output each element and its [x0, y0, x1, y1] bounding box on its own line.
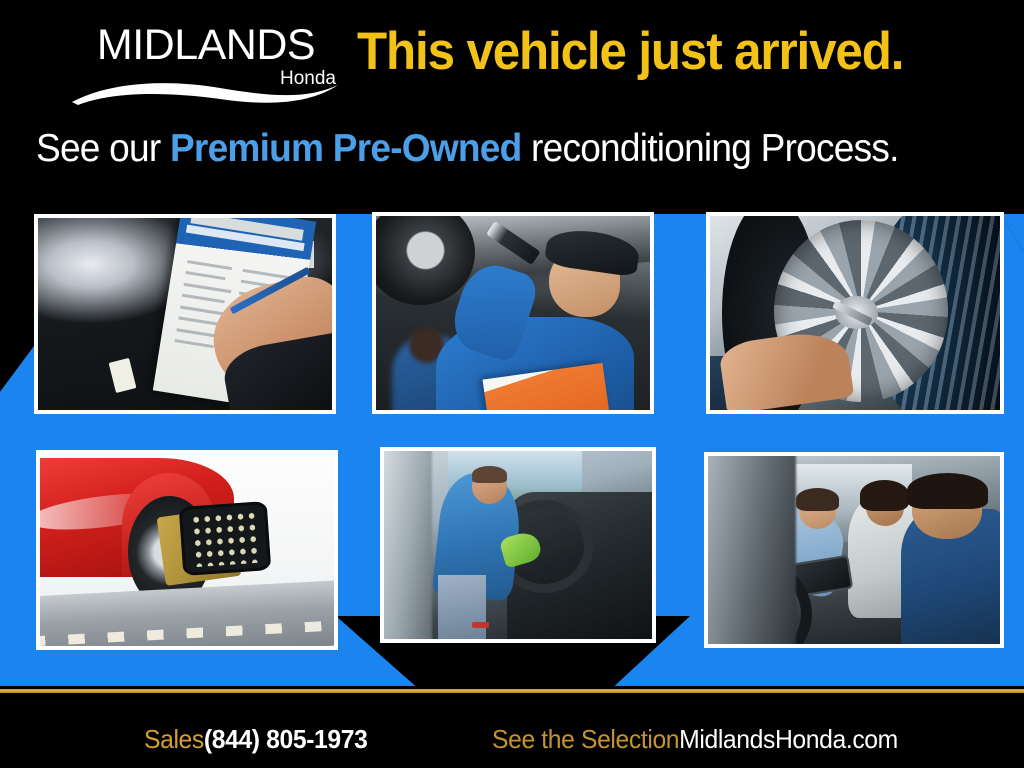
- midlands-honda-logo[interactable]: MIDLANDS Honda: [72, 22, 340, 100]
- alignment-target: [179, 501, 272, 576]
- console-indicator: [472, 622, 488, 628]
- detailer-jeans: [438, 575, 486, 639]
- customer-woman-hair: [860, 480, 910, 510]
- photo-inspection-checklist: [34, 214, 336, 414]
- banner-header: MIDLANDS Honda This vehicle just arrived…: [0, 0, 1024, 196]
- photo-delivery-walkthrough: [704, 452, 1004, 648]
- selection-link[interactable]: See the SelectionMidlandsHonda.com: [492, 724, 898, 754]
- banner-footer: Sales(844) 805-1973 See the SelectionMid…: [0, 693, 1024, 768]
- detailer-hair: [472, 466, 507, 483]
- photo-interior-detailing-image: [384, 451, 652, 639]
- photo-wheel-alignment-image: [40, 454, 334, 646]
- sales-contact[interactable]: Sales(844) 805-1973: [144, 724, 367, 754]
- door-pillar: [384, 451, 432, 639]
- photo-undercarriage-inspection-image: [376, 216, 650, 410]
- subheadline-lead: See our: [36, 127, 170, 170]
- promo-banner: MIDLANDS Honda This vehicle just arrived…: [0, 0, 1024, 768]
- customer-man-hair: [907, 473, 989, 509]
- front-tire: [376, 216, 475, 305]
- photo-interior-detailing: [380, 447, 656, 643]
- photo-delivery-walkthrough-image: [708, 456, 1000, 644]
- subheadline-highlight: Premium Pre-Owned: [170, 127, 522, 170]
- photo-wheel-service-image: [710, 216, 1000, 410]
- sales-label: Sales: [144, 724, 204, 754]
- headline: This vehicle just arrived.: [357, 22, 903, 82]
- sales-phone[interactable]: (844) 805-1973: [204, 724, 368, 754]
- subheadline: See our Premium Pre-Owned reconditioning…: [36, 126, 899, 172]
- photo-inspection-checklist-image: [38, 218, 332, 410]
- website-url[interactable]: MidlandsHonda.com: [679, 724, 898, 754]
- alignment-target-dots: [190, 510, 261, 567]
- alignment-ramp: [40, 580, 334, 646]
- photo-wheel-alignment: [36, 450, 338, 650]
- ramp-stripe: [40, 620, 334, 646]
- door-frame: [708, 456, 796, 644]
- subheadline-tail: reconditioning Process.: [521, 127, 898, 170]
- sales-associate-hair: [796, 488, 840, 511]
- photo-undercarriage-inspection: [372, 212, 654, 414]
- photo-wheel-service: [706, 212, 1004, 414]
- dipstick-tag: [108, 358, 135, 393]
- selection-label: See the Selection: [492, 724, 679, 754]
- swoosh-icon: [70, 80, 342, 106]
- logo-wordmark: MIDLANDS: [72, 22, 340, 68]
